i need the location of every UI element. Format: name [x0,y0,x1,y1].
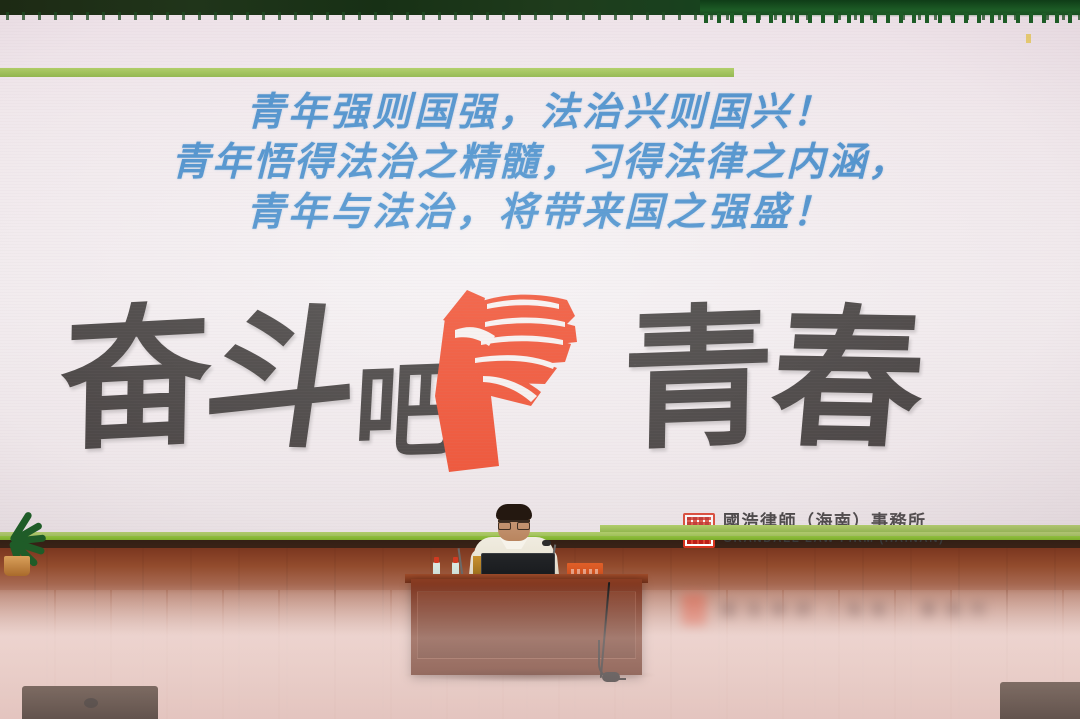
floor-power-box [602,672,620,682]
slide-slogan: 青年强则国强，法治兴则国兴！ 青年悟得法治之精髓，习得法律之内涵， 青年与法治，… [0,88,1080,238]
calligraphy-glyph-dou: 斗 [195,301,368,458]
stage-monitor-left [22,686,158,719]
stage-monitor-right [1000,682,1080,719]
speaker-hair [496,504,532,520]
slogan-line-1: 青年强则国强，法治兴则国兴！ [0,88,1080,138]
potted-plant [0,520,46,586]
reflected-seal-icon [682,594,706,626]
stage-monitor-left-port [84,698,98,708]
auditorium-photo: 國浩律師（海南）事務所 青年强则国强，法治兴则国兴！ 青年悟得法治之精髓，习得法… [0,0,1080,719]
projection-screen: 青年强则国强，法治兴则国兴！ 青年悟得法治之精髓，习得法律之内涵， 青年与法治，… [0,14,1080,536]
calligraphy-glyph-chun: 春 [765,302,930,456]
floor-logo-reflection: 國浩律師（海南）事務所 [660,592,1000,640]
calligraphy-glyph-fen: 奋 [59,299,213,459]
red-fist-icon [425,276,585,476]
reflected-firm-name: 國浩律師（海南）事務所 [720,596,995,621]
slogan-line-3: 青年与法治，将带来国之强盛！ [0,188,1080,238]
green-rule-top [0,68,734,77]
glasses-icon [498,520,530,529]
slogan-line-2: 青年悟得法治之精髓，习得法律之内涵， [0,138,1080,188]
calligraphy-glyph-qing: 青 [621,300,776,457]
plant-pot [4,556,30,576]
yellow-speck [1026,34,1031,43]
microphone-head-icon [542,540,551,546]
ceiling-foliage-right [700,0,1080,17]
